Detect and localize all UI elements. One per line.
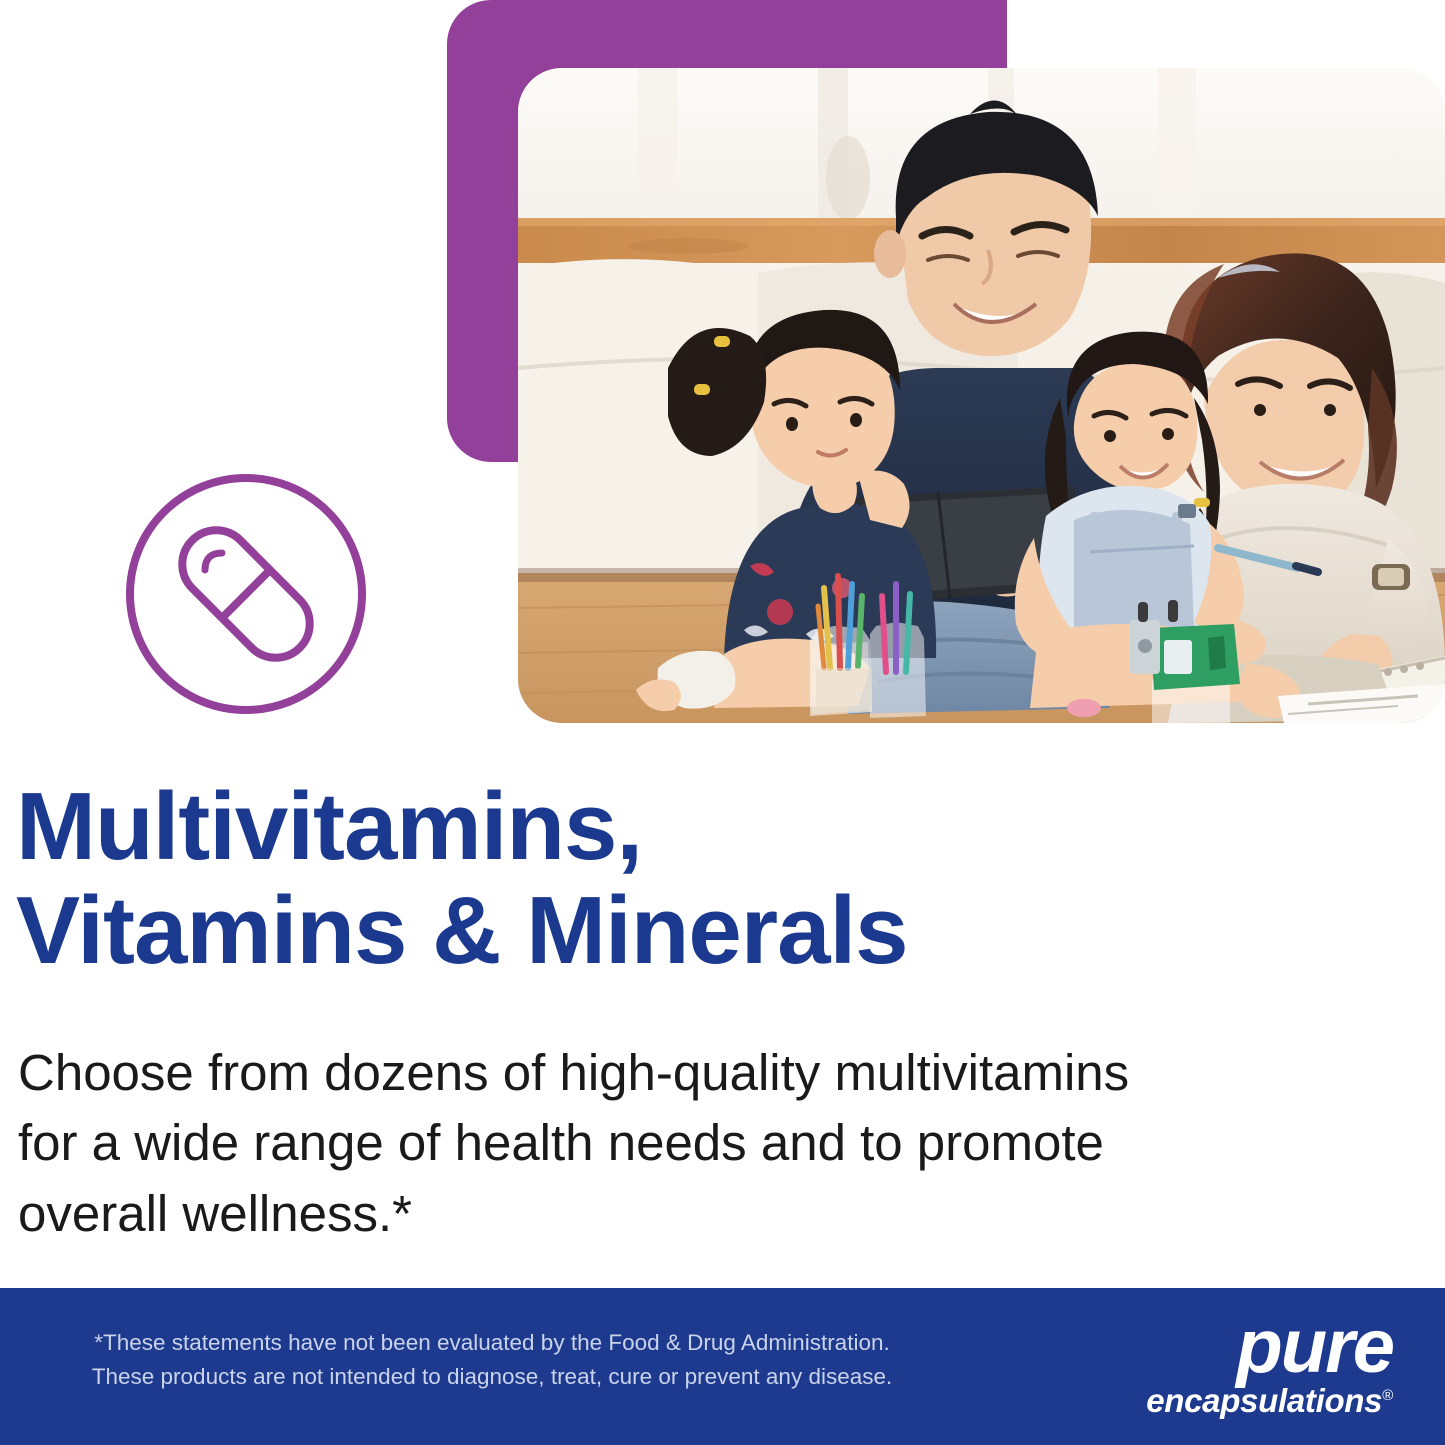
page-title: Multivitamins, Vitamins & Minerals bbox=[16, 775, 1196, 982]
photo-illustration bbox=[518, 68, 1445, 723]
body-line-1: Choose from dozens of high-quality multi… bbox=[18, 1038, 1278, 1108]
photo-eraser bbox=[1067, 699, 1101, 717]
capsule-icon-svg bbox=[122, 470, 370, 718]
marketing-banner: Multivitamins, Vitamins & Minerals Choos… bbox=[0, 0, 1445, 1445]
body-line-2: for a wide range of health needs and to … bbox=[18, 1108, 1278, 1178]
headline-line-2: Vitamins & Minerals bbox=[16, 879, 1196, 983]
brand-logo: pure encapsulations® bbox=[1103, 1312, 1393, 1420]
brand-logo-secondary: encapsulations bbox=[1146, 1382, 1382, 1419]
registered-trademark-icon: ® bbox=[1382, 1387, 1393, 1404]
body-line-3: overall wellness.* bbox=[18, 1179, 1278, 1249]
disclaimer-line-2: These products are not intended to diagn… bbox=[52, 1360, 932, 1394]
brand-logo-secondary-wrap: encapsulations® bbox=[1103, 1384, 1393, 1417]
footer-bar: *These statements have not been evaluate… bbox=[0, 1288, 1445, 1445]
body-copy: Choose from dozens of high-quality multi… bbox=[18, 1038, 1278, 1249]
capsule-icon bbox=[122, 470, 370, 718]
disclaimer-text: *These statements have not been evaluate… bbox=[52, 1326, 932, 1394]
disclaimer-line-1: *These statements have not been evaluate… bbox=[52, 1326, 932, 1360]
family-lifestyle-photo bbox=[518, 68, 1445, 723]
headline-line-1: Multivitamins, bbox=[16, 775, 1196, 879]
brand-logo-primary: pure bbox=[1103, 1312, 1393, 1382]
